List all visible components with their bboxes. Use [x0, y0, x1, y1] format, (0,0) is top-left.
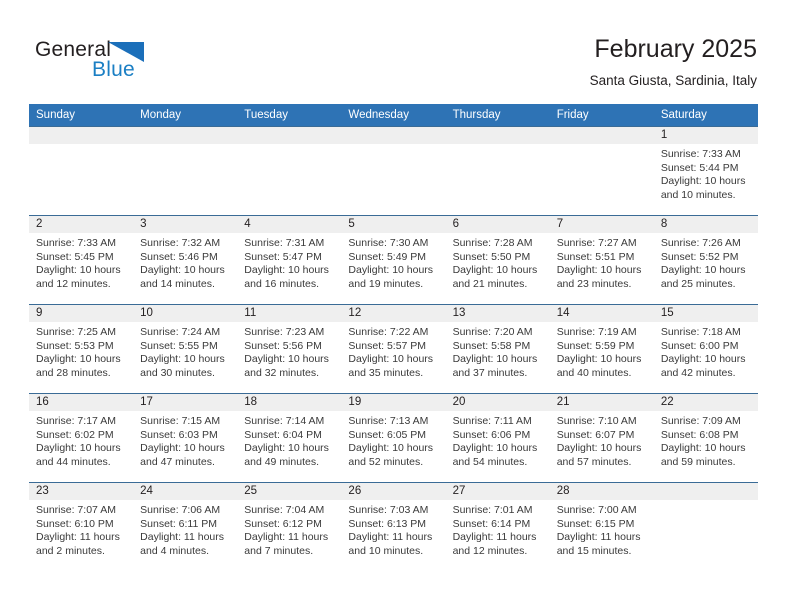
day-number	[341, 127, 445, 144]
calendar-cell-day[interactable]: 10Sunrise: 7:24 AMSunset: 5:55 PMDayligh…	[133, 305, 237, 394]
daylight-duration-line1: Daylight: 11 hours	[244, 531, 333, 545]
daylight-duration-line1: Daylight: 10 hours	[661, 264, 750, 278]
daylight-duration-line2: and 35 minutes.	[348, 367, 437, 381]
weekday-header-saturday: Saturday	[654, 104, 758, 127]
calendar-cell-day[interactable]: 4Sunrise: 7:31 AMSunset: 5:47 PMDaylight…	[237, 216, 341, 305]
day-number: 6	[446, 216, 550, 233]
calendar-cell-day[interactable]: 28Sunrise: 7:00 AMSunset: 6:15 PMDayligh…	[550, 483, 654, 572]
day-number: 26	[341, 483, 445, 500]
sunrise-time: Sunrise: 7:00 AM	[557, 504, 646, 518]
daylight-duration-line1: Daylight: 10 hours	[557, 353, 646, 367]
calendar-cell-day[interactable]: 15Sunrise: 7:18 AMSunset: 6:00 PMDayligh…	[654, 305, 758, 394]
sunset-time: Sunset: 6:00 PM	[661, 340, 750, 354]
daylight-duration-line1: Daylight: 10 hours	[244, 442, 333, 456]
daylight-duration-line2: and 16 minutes.	[244, 278, 333, 292]
day-details: Sunrise: 7:27 AMSunset: 5:51 PMDaylight:…	[550, 233, 654, 291]
day-number: 3	[133, 216, 237, 233]
daylight-duration-line1: Daylight: 10 hours	[140, 353, 229, 367]
daylight-duration-line1: Daylight: 11 hours	[36, 531, 125, 545]
calendar-cell-day[interactable]: 27Sunrise: 7:01 AMSunset: 6:14 PMDayligh…	[446, 483, 550, 572]
calendar-cell-day[interactable]: 18Sunrise: 7:14 AMSunset: 6:04 PMDayligh…	[237, 394, 341, 483]
day-details: Sunrise: 7:03 AMSunset: 6:13 PMDaylight:…	[341, 500, 445, 558]
day-number: 14	[550, 305, 654, 322]
daylight-duration-line2: and 4 minutes.	[140, 545, 229, 559]
daylight-duration-line1: Daylight: 10 hours	[557, 264, 646, 278]
calendar-cell-day[interactable]: 19Sunrise: 7:13 AMSunset: 6:05 PMDayligh…	[341, 394, 445, 483]
day-number	[550, 127, 654, 144]
calendar-cell-day[interactable]: 6Sunrise: 7:28 AMSunset: 5:50 PMDaylight…	[446, 216, 550, 305]
daylight-duration-line2: and 14 minutes.	[140, 278, 229, 292]
day-number: 22	[654, 394, 758, 411]
sunset-time: Sunset: 5:51 PM	[557, 251, 646, 265]
calendar-cell-empty	[654, 483, 758, 572]
daylight-duration-line2: and 54 minutes.	[453, 456, 542, 470]
sunrise-time: Sunrise: 7:20 AM	[453, 326, 542, 340]
calendar-body: 1Sunrise: 7:33 AMSunset: 5:44 PMDaylight…	[29, 127, 758, 572]
daylight-duration-line2: and 32 minutes.	[244, 367, 333, 381]
sunrise-time: Sunrise: 7:30 AM	[348, 237, 437, 251]
sunrise-time: Sunrise: 7:18 AM	[661, 326, 750, 340]
sunrise-time: Sunrise: 7:07 AM	[36, 504, 125, 518]
calendar-cell-day[interactable]: 5Sunrise: 7:30 AMSunset: 5:49 PMDaylight…	[341, 216, 445, 305]
general-blue-logo[interactable]: General Blue	[35, 38, 215, 86]
day-number: 13	[446, 305, 550, 322]
sunrise-time: Sunrise: 7:26 AM	[661, 237, 750, 251]
sunrise-time: Sunrise: 7:27 AM	[557, 237, 646, 251]
day-details: Sunrise: 7:13 AMSunset: 6:05 PMDaylight:…	[341, 411, 445, 469]
sunset-time: Sunset: 5:52 PM	[661, 251, 750, 265]
calendar-cell-day[interactable]: 24Sunrise: 7:06 AMSunset: 6:11 PMDayligh…	[133, 483, 237, 572]
daylight-duration-line2: and 10 minutes.	[661, 189, 750, 203]
sunset-time: Sunset: 6:10 PM	[36, 518, 125, 532]
daylight-duration-line2: and 15 minutes.	[557, 545, 646, 559]
calendar-cell-day[interactable]: 7Sunrise: 7:27 AMSunset: 5:51 PMDaylight…	[550, 216, 654, 305]
sunset-time: Sunset: 6:12 PM	[244, 518, 333, 532]
page-title: February 2025	[590, 34, 757, 64]
day-details: Sunrise: 7:24 AMSunset: 5:55 PMDaylight:…	[133, 322, 237, 380]
day-details: Sunrise: 7:04 AMSunset: 6:12 PMDaylight:…	[237, 500, 341, 558]
sunset-time: Sunset: 5:46 PM	[140, 251, 229, 265]
daylight-duration-line1: Daylight: 10 hours	[453, 442, 542, 456]
calendar-cell-empty	[29, 127, 133, 216]
calendar-cell-day[interactable]: 16Sunrise: 7:17 AMSunset: 6:02 PMDayligh…	[29, 394, 133, 483]
day-number: 23	[29, 483, 133, 500]
daylight-duration-line2: and 12 minutes.	[36, 278, 125, 292]
page-header: General Blue February 2025 Santa Giusta,…	[0, 0, 792, 100]
day-details: Sunrise: 7:06 AMSunset: 6:11 PMDaylight:…	[133, 500, 237, 558]
daylight-duration-line2: and 44 minutes.	[36, 456, 125, 470]
day-details: Sunrise: 7:09 AMSunset: 6:08 PMDaylight:…	[654, 411, 758, 469]
sunset-time: Sunset: 6:15 PM	[557, 518, 646, 532]
sunrise-time: Sunrise: 7:32 AM	[140, 237, 229, 251]
calendar-cell-day[interactable]: 11Sunrise: 7:23 AMSunset: 5:56 PMDayligh…	[237, 305, 341, 394]
sunrise-time: Sunrise: 7:09 AM	[661, 415, 750, 429]
day-details: Sunrise: 7:33 AMSunset: 5:45 PMDaylight:…	[29, 233, 133, 291]
daylight-duration-line1: Daylight: 11 hours	[453, 531, 542, 545]
sunrise-time: Sunrise: 7:04 AM	[244, 504, 333, 518]
daylight-duration-line1: Daylight: 10 hours	[348, 442, 437, 456]
day-number: 10	[133, 305, 237, 322]
day-number: 21	[550, 394, 654, 411]
day-number: 18	[237, 394, 341, 411]
daylight-duration-line2: and 37 minutes.	[453, 367, 542, 381]
day-details: Sunrise: 7:18 AMSunset: 6:00 PMDaylight:…	[654, 322, 758, 380]
daylight-duration-line1: Daylight: 10 hours	[557, 442, 646, 456]
calendar-cell-empty	[237, 127, 341, 216]
sunrise-time: Sunrise: 7:10 AM	[557, 415, 646, 429]
sunset-time: Sunset: 6:13 PM	[348, 518, 437, 532]
sunset-time: Sunset: 5:44 PM	[661, 162, 750, 176]
calendar-cell-day[interactable]: 25Sunrise: 7:04 AMSunset: 6:12 PMDayligh…	[237, 483, 341, 572]
day-number	[133, 127, 237, 144]
daylight-duration-line1: Daylight: 10 hours	[244, 264, 333, 278]
sunset-time: Sunset: 6:08 PM	[661, 429, 750, 443]
sunrise-time: Sunrise: 7:11 AM	[453, 415, 542, 429]
calendar-cell-empty	[446, 127, 550, 216]
day-number	[446, 127, 550, 144]
daylight-duration-line1: Daylight: 10 hours	[661, 175, 750, 189]
daylight-duration-line1: Daylight: 11 hours	[140, 531, 229, 545]
day-number: 4	[237, 216, 341, 233]
sunset-time: Sunset: 6:05 PM	[348, 429, 437, 443]
weekday-header-monday: Monday	[133, 104, 237, 127]
sunrise-time: Sunrise: 7:14 AM	[244, 415, 333, 429]
daylight-duration-line1: Daylight: 10 hours	[36, 264, 125, 278]
calendar-week-row: 2Sunrise: 7:33 AMSunset: 5:45 PMDaylight…	[29, 216, 758, 305]
day-number: 27	[446, 483, 550, 500]
day-number: 8	[654, 216, 758, 233]
day-details: Sunrise: 7:20 AMSunset: 5:58 PMDaylight:…	[446, 322, 550, 380]
sunrise-time: Sunrise: 7:22 AM	[348, 326, 437, 340]
day-number: 2	[29, 216, 133, 233]
sunset-time: Sunset: 6:03 PM	[140, 429, 229, 443]
sunrise-time: Sunrise: 7:03 AM	[348, 504, 437, 518]
daylight-duration-line2: and 19 minutes.	[348, 278, 437, 292]
sunset-time: Sunset: 6:07 PM	[557, 429, 646, 443]
calendar-cell-empty	[133, 127, 237, 216]
calendar-week-row: 9Sunrise: 7:25 AMSunset: 5:53 PMDaylight…	[29, 305, 758, 394]
day-details: Sunrise: 7:07 AMSunset: 6:10 PMDaylight:…	[29, 500, 133, 558]
daylight-duration-line1: Daylight: 11 hours	[557, 531, 646, 545]
day-number: 28	[550, 483, 654, 500]
sunset-time: Sunset: 6:06 PM	[453, 429, 542, 443]
day-number: 7	[550, 216, 654, 233]
sunset-time: Sunset: 5:50 PM	[453, 251, 542, 265]
calendar-week-row: 23Sunrise: 7:07 AMSunset: 6:10 PMDayligh…	[29, 483, 758, 572]
sunrise-time: Sunrise: 7:25 AM	[36, 326, 125, 340]
sunset-time: Sunset: 5:58 PM	[453, 340, 542, 354]
calendar-cell-day[interactable]: 21Sunrise: 7:10 AMSunset: 6:07 PMDayligh…	[550, 394, 654, 483]
calendar-cell-day[interactable]: 9Sunrise: 7:25 AMSunset: 5:53 PMDaylight…	[29, 305, 133, 394]
calendar-cell-day[interactable]: 17Sunrise: 7:15 AMSunset: 6:03 PMDayligh…	[133, 394, 237, 483]
day-details: Sunrise: 7:32 AMSunset: 5:46 PMDaylight:…	[133, 233, 237, 291]
calendar-cell-empty	[341, 127, 445, 216]
sunrise-time: Sunrise: 7:19 AM	[557, 326, 646, 340]
daylight-duration-line2: and 42 minutes.	[661, 367, 750, 381]
daylight-duration-line1: Daylight: 10 hours	[453, 264, 542, 278]
day-number: 25	[237, 483, 341, 500]
daylight-duration-line1: Daylight: 10 hours	[36, 353, 125, 367]
weekday-header-thursday: Thursday	[446, 104, 550, 127]
daylight-duration-line2: and 23 minutes.	[557, 278, 646, 292]
day-details: Sunrise: 7:15 AMSunset: 6:03 PMDaylight:…	[133, 411, 237, 469]
sunset-time: Sunset: 6:11 PM	[140, 518, 229, 532]
day-number	[237, 127, 341, 144]
calendar-header-row: Sunday Monday Tuesday Wednesday Thursday…	[29, 104, 758, 127]
calendar-week-row: 16Sunrise: 7:17 AMSunset: 6:02 PMDayligh…	[29, 394, 758, 483]
sunset-time: Sunset: 6:14 PM	[453, 518, 542, 532]
sunrise-time: Sunrise: 7:31 AM	[244, 237, 333, 251]
calendar-cell-day[interactable]: 14Sunrise: 7:19 AMSunset: 5:59 PMDayligh…	[550, 305, 654, 394]
day-number: 15	[654, 305, 758, 322]
sunrise-time: Sunrise: 7:23 AM	[244, 326, 333, 340]
calendar-cell-day[interactable]: 20Sunrise: 7:11 AMSunset: 6:06 PMDayligh…	[446, 394, 550, 483]
day-number: 1	[654, 127, 758, 144]
calendar-cell-day[interactable]: 26Sunrise: 7:03 AMSunset: 6:13 PMDayligh…	[341, 483, 445, 572]
daylight-duration-line2: and 7 minutes.	[244, 545, 333, 559]
day-details: Sunrise: 7:19 AMSunset: 5:59 PMDaylight:…	[550, 322, 654, 380]
day-details: Sunrise: 7:28 AMSunset: 5:50 PMDaylight:…	[446, 233, 550, 291]
daylight-duration-line1: Daylight: 11 hours	[348, 531, 437, 545]
weekday-header-friday: Friday	[550, 104, 654, 127]
calendar-table: Sunday Monday Tuesday Wednesday Thursday…	[29, 104, 758, 572]
sunset-time: Sunset: 5:55 PM	[140, 340, 229, 354]
calendar-cell-day[interactable]: 23Sunrise: 7:07 AMSunset: 6:10 PMDayligh…	[29, 483, 133, 572]
day-details: Sunrise: 7:10 AMSunset: 6:07 PMDaylight:…	[550, 411, 654, 469]
day-number: 20	[446, 394, 550, 411]
day-details: Sunrise: 7:01 AMSunset: 6:14 PMDaylight:…	[446, 500, 550, 558]
sunset-time: Sunset: 5:56 PM	[244, 340, 333, 354]
daylight-duration-line2: and 57 minutes.	[557, 456, 646, 470]
sunset-time: Sunset: 5:57 PM	[348, 340, 437, 354]
day-details: Sunrise: 7:17 AMSunset: 6:02 PMDaylight:…	[29, 411, 133, 469]
daylight-duration-line2: and 52 minutes.	[348, 456, 437, 470]
sunrise-time: Sunrise: 7:01 AM	[453, 504, 542, 518]
daylight-duration-line1: Daylight: 10 hours	[140, 264, 229, 278]
sunset-time: Sunset: 5:49 PM	[348, 251, 437, 265]
day-details: Sunrise: 7:00 AMSunset: 6:15 PMDaylight:…	[550, 500, 654, 558]
sunset-time: Sunset: 5:53 PM	[36, 340, 125, 354]
sunrise-time: Sunrise: 7:24 AM	[140, 326, 229, 340]
daylight-duration-line1: Daylight: 10 hours	[36, 442, 125, 456]
sunset-time: Sunset: 5:47 PM	[244, 251, 333, 265]
sunrise-time: Sunrise: 7:06 AM	[140, 504, 229, 518]
sunrise-time: Sunrise: 7:15 AM	[140, 415, 229, 429]
day-details: Sunrise: 7:33 AMSunset: 5:44 PMDaylight:…	[654, 144, 758, 202]
weekday-header-tuesday: Tuesday	[237, 104, 341, 127]
daylight-duration-line1: Daylight: 10 hours	[453, 353, 542, 367]
daylight-duration-line2: and 30 minutes.	[140, 367, 229, 381]
weekday-header-wednesday: Wednesday	[341, 104, 445, 127]
daylight-duration-line2: and 47 minutes.	[140, 456, 229, 470]
sunrise-time: Sunrise: 7:33 AM	[36, 237, 125, 251]
daylight-duration-line2: and 21 minutes.	[453, 278, 542, 292]
sunset-time: Sunset: 5:59 PM	[557, 340, 646, 354]
daylight-duration-line1: Daylight: 10 hours	[348, 264, 437, 278]
daylight-duration-line2: and 25 minutes.	[661, 278, 750, 292]
sunset-time: Sunset: 5:45 PM	[36, 251, 125, 265]
calendar-cell-day[interactable]: 2Sunrise: 7:33 AMSunset: 5:45 PMDaylight…	[29, 216, 133, 305]
calendar-cell-day[interactable]: 12Sunrise: 7:22 AMSunset: 5:57 PMDayligh…	[341, 305, 445, 394]
sunrise-time: Sunrise: 7:13 AM	[348, 415, 437, 429]
sunrise-time: Sunrise: 7:17 AM	[36, 415, 125, 429]
calendar-page: General Blue February 2025 Santa Giusta,…	[0, 0, 792, 612]
day-number: 11	[237, 305, 341, 322]
day-details: Sunrise: 7:14 AMSunset: 6:04 PMDaylight:…	[237, 411, 341, 469]
day-number: 17	[133, 394, 237, 411]
calendar-cell-day[interactable]: 22Sunrise: 7:09 AMSunset: 6:08 PMDayligh…	[654, 394, 758, 483]
calendar-cell-empty	[550, 127, 654, 216]
calendar-cell-day[interactable]: 8Sunrise: 7:26 AMSunset: 5:52 PMDaylight…	[654, 216, 758, 305]
page-subtitle: Santa Giusta, Sardinia, Italy	[590, 72, 757, 90]
daylight-duration-line1: Daylight: 10 hours	[140, 442, 229, 456]
daylight-duration-line1: Daylight: 10 hours	[244, 353, 333, 367]
calendar-cell-day[interactable]: 3Sunrise: 7:32 AMSunset: 5:46 PMDaylight…	[133, 216, 237, 305]
daylight-duration-line2: and 12 minutes.	[453, 545, 542, 559]
daylight-duration-line1: Daylight: 10 hours	[661, 353, 750, 367]
daylight-duration-line1: Daylight: 10 hours	[661, 442, 750, 456]
day-number: 9	[29, 305, 133, 322]
day-details: Sunrise: 7:11 AMSunset: 6:06 PMDaylight:…	[446, 411, 550, 469]
day-details: Sunrise: 7:25 AMSunset: 5:53 PMDaylight:…	[29, 322, 133, 380]
day-number: 16	[29, 394, 133, 411]
day-details: Sunrise: 7:23 AMSunset: 5:56 PMDaylight:…	[237, 322, 341, 380]
title-block: February 2025 Santa Giusta, Sardinia, It…	[590, 34, 757, 90]
day-details: Sunrise: 7:22 AMSunset: 5:57 PMDaylight:…	[341, 322, 445, 380]
day-details: Sunrise: 7:26 AMSunset: 5:52 PMDaylight:…	[654, 233, 758, 291]
day-number: 12	[341, 305, 445, 322]
day-number: 24	[133, 483, 237, 500]
daylight-duration-line1: Daylight: 10 hours	[348, 353, 437, 367]
day-details: Sunrise: 7:30 AMSunset: 5:49 PMDaylight:…	[341, 233, 445, 291]
daylight-duration-line2: and 49 minutes.	[244, 456, 333, 470]
calendar-week-row: 1Sunrise: 7:33 AMSunset: 5:44 PMDaylight…	[29, 127, 758, 216]
day-details: Sunrise: 7:31 AMSunset: 5:47 PMDaylight:…	[237, 233, 341, 291]
sunset-time: Sunset: 6:04 PM	[244, 429, 333, 443]
daylight-duration-line2: and 28 minutes.	[36, 367, 125, 381]
sunset-time: Sunset: 6:02 PM	[36, 429, 125, 443]
daylight-duration-line2: and 2 minutes.	[36, 545, 125, 559]
calendar-cell-day[interactable]: 1Sunrise: 7:33 AMSunset: 5:44 PMDaylight…	[654, 127, 758, 216]
day-number	[29, 127, 133, 144]
day-number: 5	[341, 216, 445, 233]
logo-text-blue: Blue	[92, 58, 135, 82]
day-number	[654, 483, 758, 500]
day-number: 19	[341, 394, 445, 411]
daylight-duration-line2: and 59 minutes.	[661, 456, 750, 470]
weekday-header-sunday: Sunday	[29, 104, 133, 127]
sunrise-time: Sunrise: 7:33 AM	[661, 148, 750, 162]
daylight-duration-line2: and 40 minutes.	[557, 367, 646, 381]
daylight-duration-line2: and 10 minutes.	[348, 545, 437, 559]
sunrise-time: Sunrise: 7:28 AM	[453, 237, 542, 251]
calendar-cell-day[interactable]: 13Sunrise: 7:20 AMSunset: 5:58 PMDayligh…	[446, 305, 550, 394]
